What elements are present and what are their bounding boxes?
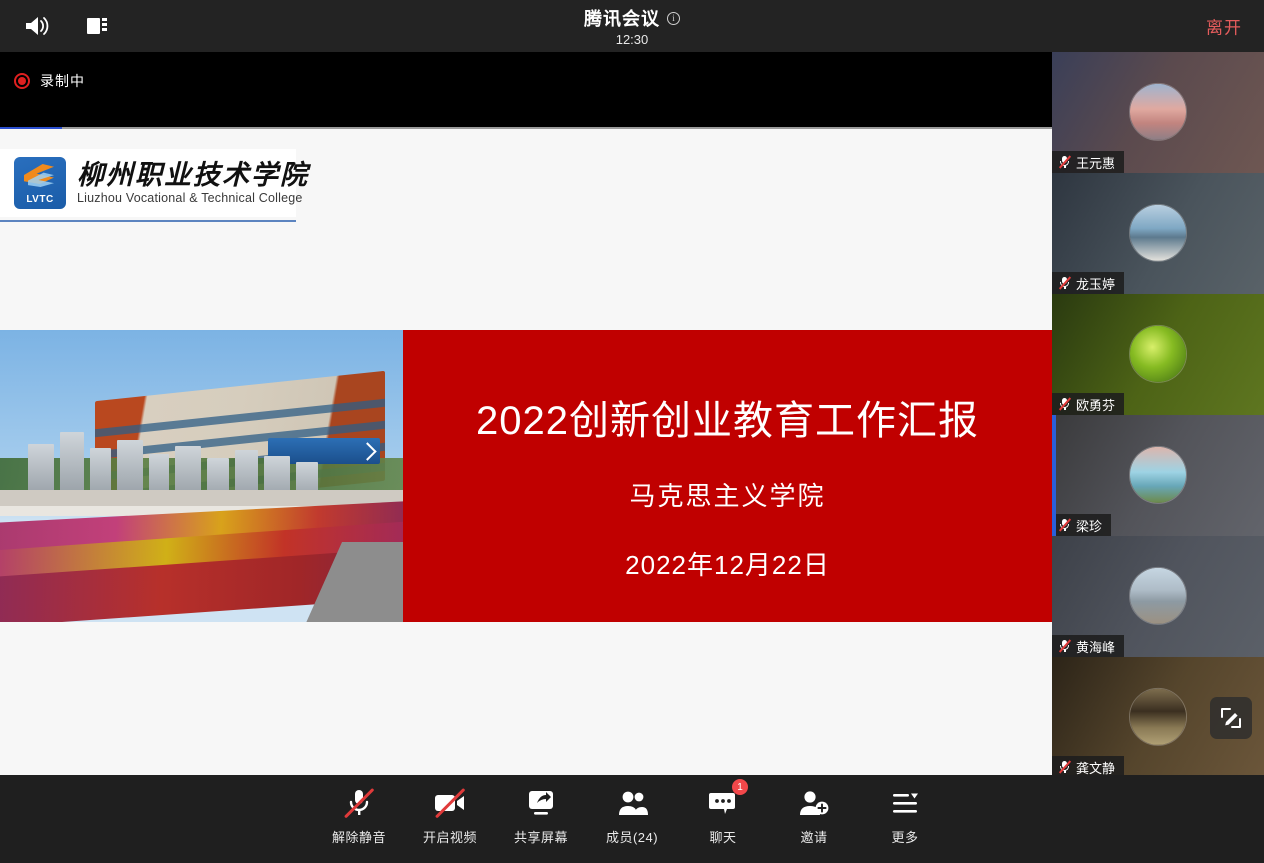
- mic-off-icon: [344, 783, 374, 823]
- participant-nametag: 欧勇芬: [1052, 393, 1124, 415]
- toolbar-label: 解除静音: [332, 827, 386, 846]
- participant-name: 王元惠: [1076, 153, 1115, 172]
- meeting-window: 腾讯会议 i 12:30 离开 录制中 LVTC 柳州职业技术学院 Liuzho…: [0, 0, 1264, 863]
- participant-name: 梁珍: [1076, 516, 1102, 535]
- toolbar-label: 成员(24): [606, 827, 658, 846]
- annotate-pen-icon[interactable]: [1210, 697, 1252, 739]
- lvtc-logo-text: LVTC: [14, 194, 66, 205]
- participant-tile[interactable]: 龚文静: [1052, 657, 1264, 775]
- college-logo: LVTC 柳州职业技术学院 Liuzhou Vocational & Techn…: [0, 149, 296, 217]
- mic-off-icon: [1058, 155, 1071, 169]
- invite-button[interactable]: 邀请: [769, 783, 860, 855]
- avatar: [1129, 445, 1187, 503]
- participants-button[interactable]: 成员(24): [587, 783, 678, 855]
- participant-tile[interactable]: 欧勇芬: [1052, 294, 1264, 415]
- participant-nametag: 王元惠: [1052, 151, 1124, 173]
- share-screen-icon: [526, 783, 556, 823]
- toolbar-label: 开启视频: [423, 827, 477, 846]
- avatar: [1129, 687, 1187, 745]
- recording-label: 录制中: [40, 71, 85, 91]
- participants-icon: [616, 783, 648, 823]
- participant-name: 欧勇芬: [1076, 395, 1115, 414]
- toolbar-label: 邀请: [800, 827, 827, 846]
- participant-tile[interactable]: 黄海峰: [1052, 536, 1264, 657]
- campus-photo: [0, 330, 403, 622]
- start-video-button[interactable]: 开启视频: [405, 783, 496, 855]
- top-bar-left-icons: [0, 11, 112, 41]
- leave-meeting-button[interactable]: 离开: [1206, 14, 1242, 39]
- slide-title-panel: 2022创新创业教育工作汇报 马克思主义学院 2022年12月22日: [403, 330, 1052, 622]
- info-icon[interactable]: i: [667, 12, 680, 25]
- mic-off-icon: [1058, 518, 1071, 532]
- participant-nametag: 黄海峰: [1052, 635, 1124, 657]
- college-name-en: Liuzhou Vocational & Technical College: [77, 191, 309, 205]
- meeting-title-block: 腾讯会议 i 12:30: [0, 0, 1264, 52]
- recording-indicator[interactable]: 录制中: [14, 71, 85, 91]
- slide-title: 2022创新创业教育工作汇报: [476, 388, 979, 446]
- share-screen-button[interactable]: 共享屏幕: [496, 783, 587, 855]
- toolbar-label: 共享屏幕: [514, 827, 568, 846]
- chat-bubble-icon: 1: [708, 783, 738, 823]
- participant-tile[interactable]: 梁珍: [1052, 415, 1264, 536]
- avatar: [1129, 324, 1187, 382]
- unmute-button[interactable]: 解除静音: [314, 783, 405, 855]
- meeting-time: 12:30: [616, 32, 649, 47]
- participant-tile[interactable]: 龙玉婷: [1052, 173, 1264, 294]
- more-menu-icon: [890, 783, 920, 823]
- participant-sidebar[interactable]: 王元惠 龙玉婷 欧勇芬: [1052, 52, 1264, 775]
- mic-off-icon: [1058, 397, 1071, 411]
- lvtc-logo-icon: LVTC: [14, 157, 66, 209]
- mic-off-icon: [1058, 276, 1071, 290]
- meeting-title: 腾讯会议: [584, 5, 660, 31]
- college-name-cn: 柳州职业技术学院: [77, 161, 309, 189]
- toolbar-label: 更多: [891, 827, 918, 846]
- invite-user-icon: [798, 783, 830, 823]
- slide-date: 2022年12月22日: [625, 545, 830, 582]
- avatar: [1129, 82, 1187, 140]
- bottom-toolbar: 解除静音 开启视频 共享屏幕: [0, 775, 1264, 863]
- more-button[interactable]: 更多: [860, 783, 951, 855]
- logo-underline: [0, 220, 296, 222]
- share-progress-bar: [0, 127, 1052, 129]
- participant-name: 龙玉婷: [1076, 274, 1115, 293]
- chat-button[interactable]: 1 聊天: [678, 783, 769, 855]
- avatar: [1129, 566, 1187, 624]
- participant-nametag: 龙玉婷: [1052, 272, 1124, 294]
- avatar: [1129, 203, 1187, 261]
- mic-off-icon: [1058, 639, 1071, 653]
- mic-off-icon: [1058, 760, 1071, 774]
- slide-body: 2022创新创业教育工作汇报 马克思主义学院 2022年12月22日: [0, 330, 1052, 622]
- shared-screen-area[interactable]: LVTC 柳州职业技术学院 Liuzhou Vocational & Techn…: [0, 127, 1052, 775]
- camera-off-icon: [433, 783, 467, 823]
- layout-view-icon[interactable]: [82, 11, 112, 41]
- toolbar-label: 聊天: [709, 827, 736, 846]
- top-bar: 腾讯会议 i 12:30 离开: [0, 0, 1264, 52]
- participant-nametag: 龚文静: [1052, 756, 1124, 775]
- recording-dot-icon: [14, 73, 30, 89]
- chat-unread-badge: 1: [732, 779, 748, 795]
- participant-nametag: 梁珍: [1052, 514, 1111, 536]
- participant-name: 黄海峰: [1076, 637, 1115, 656]
- participant-tile[interactable]: 王元惠: [1052, 52, 1264, 173]
- speaker-volume-icon[interactable]: [22, 11, 52, 41]
- participant-name: 龚文静: [1076, 758, 1115, 776]
- slide-subtitle: 马克思主义学院: [629, 476, 825, 513]
- recording-strip: 录制中: [0, 52, 1052, 127]
